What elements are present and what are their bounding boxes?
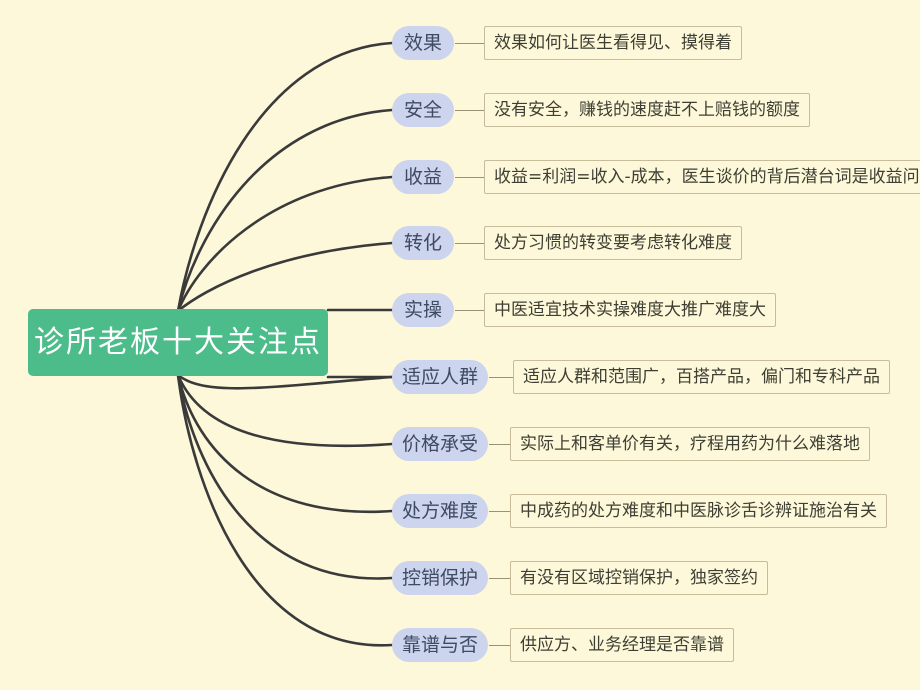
branch-curve-10 (178, 375, 392, 645)
topic-pill-1[interactable]: 效果 (392, 26, 454, 60)
connector-line-10 (489, 645, 511, 646)
detail-label-2: 没有安全，赚钱的速度赶不上赔钱的额度 (494, 102, 800, 119)
detail-label-5: 中医适宜技术实操难度大推广难度大 (494, 302, 766, 319)
branch-curve-6 (178, 375, 392, 388)
topic-pill-2[interactable]: 安全 (392, 93, 454, 127)
detail-box-4[interactable]: 处方习惯的转变要考虑转化难度 (484, 226, 742, 260)
connector-line-7 (489, 444, 511, 445)
topic-label-2: 安全 (404, 101, 442, 120)
detail-label-3: 收益=利润=收入-成本，医生谈价的背后潜台词是收益问题 (494, 169, 920, 186)
detail-label-1: 效果如何让医生看得见、摸得着 (494, 35, 732, 52)
detail-box-8[interactable]: 中成药的处方难度和中医脉诊舌诊辨证施治有关 (510, 494, 887, 528)
branch-curve-2 (178, 110, 392, 311)
connector-line-5 (455, 310, 485, 311)
branch-curve-1 (178, 43, 392, 311)
detail-box-7[interactable]: 实际上和客单价有关，疗程用药为什么难落地 (510, 427, 870, 461)
detail-label-9: 有没有区域控销保护，独家签约 (520, 570, 758, 587)
topic-label-6: 适应人群 (402, 368, 478, 387)
connector-line-1 (455, 43, 485, 44)
detail-box-10[interactable]: 供应方、业务经理是否靠谱 (510, 628, 734, 662)
connector-line-6 (489, 377, 514, 378)
topic-label-3: 收益 (404, 168, 442, 187)
detail-label-6: 适应人群和范围广，百搭产品，偏门和专科产品 (523, 369, 880, 386)
detail-box-5[interactable]: 中医适宜技术实操难度大推广难度大 (484, 293, 776, 327)
detail-label-8: 中成药的处方难度和中医脉诊舌诊辨证施治有关 (520, 503, 877, 520)
topic-label-1: 效果 (404, 34, 442, 53)
topic-label-7: 价格承受 (402, 435, 478, 454)
topic-label-8: 处方难度 (402, 502, 478, 521)
topic-pill-8[interactable]: 处方难度 (392, 494, 488, 528)
branch-curve-8 (178, 375, 392, 512)
connector-line-2 (455, 110, 485, 111)
central-node[interactable]: 诊所老板十大关注点 (28, 309, 328, 376)
topic-label-9: 控销保护 (402, 569, 478, 588)
detail-label-7: 实际上和客单价有关，疗程用药为什么难落地 (520, 436, 860, 453)
central-node-label: 诊所老板十大关注点 (34, 328, 322, 358)
topic-pill-5[interactable]: 实操 (392, 293, 454, 327)
detail-box-3[interactable]: 收益=利润=收入-成本，医生谈价的背后潜台词是收益问题 (484, 160, 920, 194)
branch-curve-4 (178, 243, 392, 311)
topic-pill-3[interactable]: 收益 (392, 160, 454, 194)
topic-label-10: 靠谱与否 (402, 636, 478, 655)
detail-box-6[interactable]: 适应人群和范围广，百搭产品，偏门和专科产品 (513, 360, 890, 394)
detail-box-1[interactable]: 效果如何让医生看得见、摸得着 (484, 26, 742, 60)
connector-line-8 (489, 511, 511, 512)
detail-label-4: 处方习惯的转变要考虑转化难度 (494, 235, 732, 252)
topic-pill-6[interactable]: 适应人群 (392, 360, 488, 394)
branch-curve-9 (178, 375, 392, 578)
detail-box-2[interactable]: 没有安全，赚钱的速度赶不上赔钱的额度 (484, 93, 810, 127)
branch-curve-3 (178, 177, 392, 311)
branch-curve-7 (178, 375, 392, 446)
topic-label-5: 实操 (404, 301, 442, 320)
topic-pill-7[interactable]: 价格承受 (392, 427, 488, 461)
topic-label-4: 转化 (404, 234, 442, 253)
topic-pill-10[interactable]: 靠谱与否 (392, 628, 488, 662)
connector-line-9 (489, 578, 511, 579)
detail-box-9[interactable]: 有没有区域控销保护，独家签约 (510, 561, 768, 595)
topic-pill-9[interactable]: 控销保护 (392, 561, 488, 595)
connector-line-4 (455, 243, 485, 244)
mindmap-canvas: 诊所老板十大关注点 效果 效果如何让医生看得见、摸得着 安全 没有安全，赚钱的速… (0, 0, 920, 690)
connector-line-3 (455, 177, 485, 178)
topic-pill-4[interactable]: 转化 (392, 226, 454, 260)
detail-label-10: 供应方、业务经理是否靠谱 (520, 637, 724, 654)
